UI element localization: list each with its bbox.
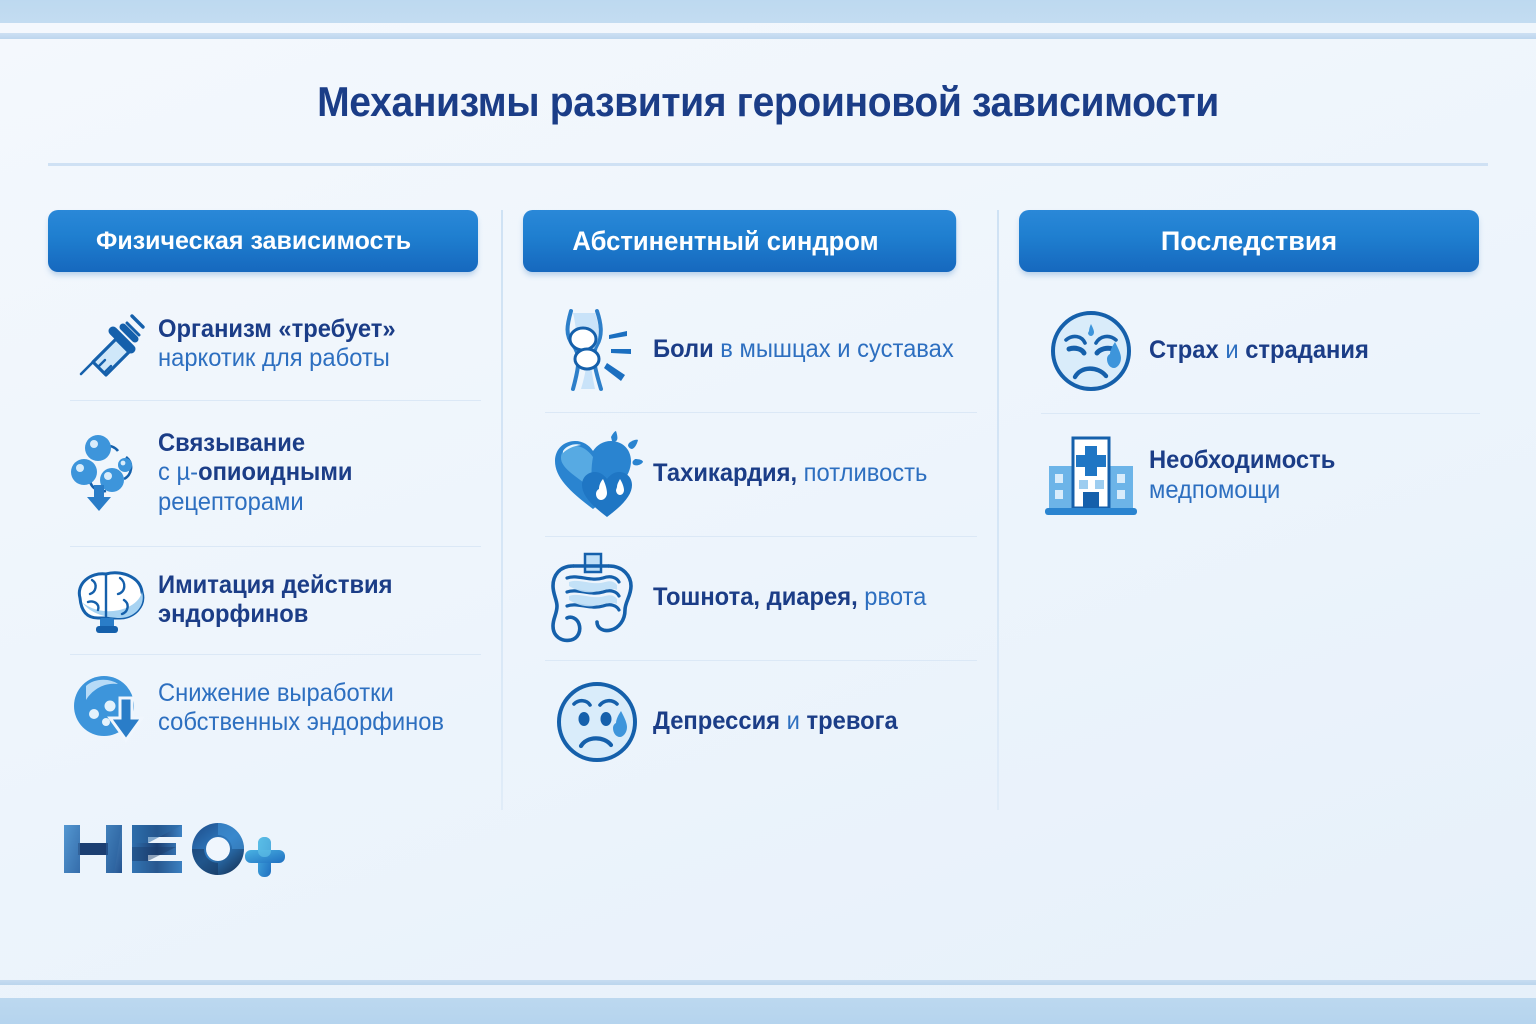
text-line: Тахикардия,	[653, 459, 797, 487]
opioid-receptor-binding-icon	[62, 431, 158, 515]
item-list-consequences: Страх и страдания	[1019, 288, 1488, 538]
column-header-label: Абстинентный синдром	[572, 226, 878, 257]
sad-crying-face-icon	[541, 679, 653, 765]
text-line: рвота	[858, 583, 927, 611]
knee-joint-pain-icon	[541, 307, 653, 393]
text-line: в мышцах и суставах	[714, 335, 954, 363]
list-item-text: Снижение выработки собственных эндорфино…	[158, 679, 444, 738]
list-item[interactable]: Боли в мышцах и суставах	[523, 288, 985, 412]
brand-logo[interactable]	[62, 818, 292, 880]
text-line: страдания	[1245, 336, 1369, 364]
text-line: и	[780, 707, 806, 735]
text-line: Организм «требует»	[158, 315, 396, 343]
item-list-physical-dependence: Организм «требует» наркотик для работы	[48, 288, 489, 762]
column-physical-dependence: Физическая зависимость	[48, 210, 501, 824]
column-consequences: Последствия	[997, 210, 1488, 824]
bottom-rule-line	[0, 980, 1536, 985]
text-line: Связывание	[158, 429, 305, 457]
text-line: тревога	[807, 707, 898, 735]
neo-plus-logo-icon	[62, 817, 292, 881]
heart-sweat-icon	[541, 431, 653, 517]
list-item[interactable]: Имитация действия эндорфинов	[48, 546, 489, 654]
item-list-withdrawal-syndrome: Боли в мышцах и суставах	[523, 288, 985, 784]
list-item-text: Организм «требует» наркотик для работы	[158, 315, 396, 374]
column-header-label: Последствия	[1161, 226, 1337, 257]
text-line: рецепторами	[158, 488, 304, 516]
text-line: Боли	[653, 335, 714, 363]
list-item-text: Боли в мышцах и суставах	[653, 335, 954, 365]
top-rule-line	[0, 33, 1536, 39]
text-line: Тошнота, диарея,	[653, 583, 858, 611]
text-line: потливость	[797, 459, 927, 487]
decreasing-endorphins-icon	[62, 668, 158, 748]
text-line: медпомощи	[1149, 476, 1280, 504]
list-item[interactable]: Тошнота, диарея, рвота	[523, 536, 985, 660]
list-item[interactable]: Связывание с µ-опиоидными рецепторами	[48, 400, 489, 546]
list-item-text: Связывание с µ-опиоидными рецепторами	[158, 429, 353, 518]
syringe-icon	[62, 306, 158, 382]
text-line: Страх	[1149, 336, 1219, 364]
text-line: Необходимость	[1149, 446, 1335, 474]
hospital-icon	[1033, 430, 1149, 522]
list-item[interactable]: Организм «требует» наркотик для работы	[48, 288, 489, 400]
list-item[interactable]: Страх и страдания	[1019, 288, 1488, 413]
text-line: собственных эндорфинов	[158, 708, 444, 736]
text-line: и	[1219, 336, 1245, 364]
list-item[interactable]: Тахикардия, потливость	[523, 412, 985, 536]
list-item[interactable]: Снижение выработки собственных эндорфино…	[48, 654, 489, 762]
suffering-face-icon	[1033, 308, 1149, 394]
title-divider	[48, 163, 1488, 166]
bottom-decorative-band	[0, 998, 1536, 1024]
brain-icon	[62, 564, 158, 636]
column-withdrawal-syndrome: Абстинентный синдром	[501, 210, 997, 824]
text-line: наркотик для работы	[158, 344, 390, 372]
list-item[interactable]: Депрессия и тревога	[523, 660, 985, 784]
text-line: Депрессия	[653, 707, 780, 735]
page-title: Механизмы развития героиновой зависимост…	[54, 78, 1482, 126]
text-line: с µ-	[158, 458, 198, 486]
list-item-text: Депрессия и тревога	[653, 707, 898, 737]
column-header-label: Физическая зависимость	[96, 227, 411, 256]
columns-container: Физическая зависимость	[48, 210, 1488, 824]
intestines-icon	[541, 552, 653, 644]
list-item[interactable]: Необходимость медпомощи	[1019, 413, 1488, 538]
list-item-text: Необходимость медпомощи	[1149, 446, 1335, 505]
column-header-withdrawal-syndrome[interactable]: Абстинентный синдром	[523, 210, 956, 272]
column-header-physical-dependence[interactable]: Физическая зависимость	[48, 210, 478, 272]
list-item-text: Тошнота, диарея, рвота	[653, 583, 926, 613]
list-item-text: Страх и страдания	[1149, 336, 1369, 366]
column-header-consequences[interactable]: Последствия	[1019, 210, 1479, 272]
text-line: Снижение выработки	[158, 679, 394, 707]
top-decorative-band	[0, 0, 1536, 23]
list-item-text: Имитация действия эндорфинов	[158, 571, 393, 630]
text-line: эндорфинов	[158, 600, 308, 628]
list-item-text: Тахикардия, потливость	[653, 459, 927, 489]
text-line: Имитация действия	[158, 571, 393, 599]
text-line: опиоидными	[198, 458, 352, 486]
